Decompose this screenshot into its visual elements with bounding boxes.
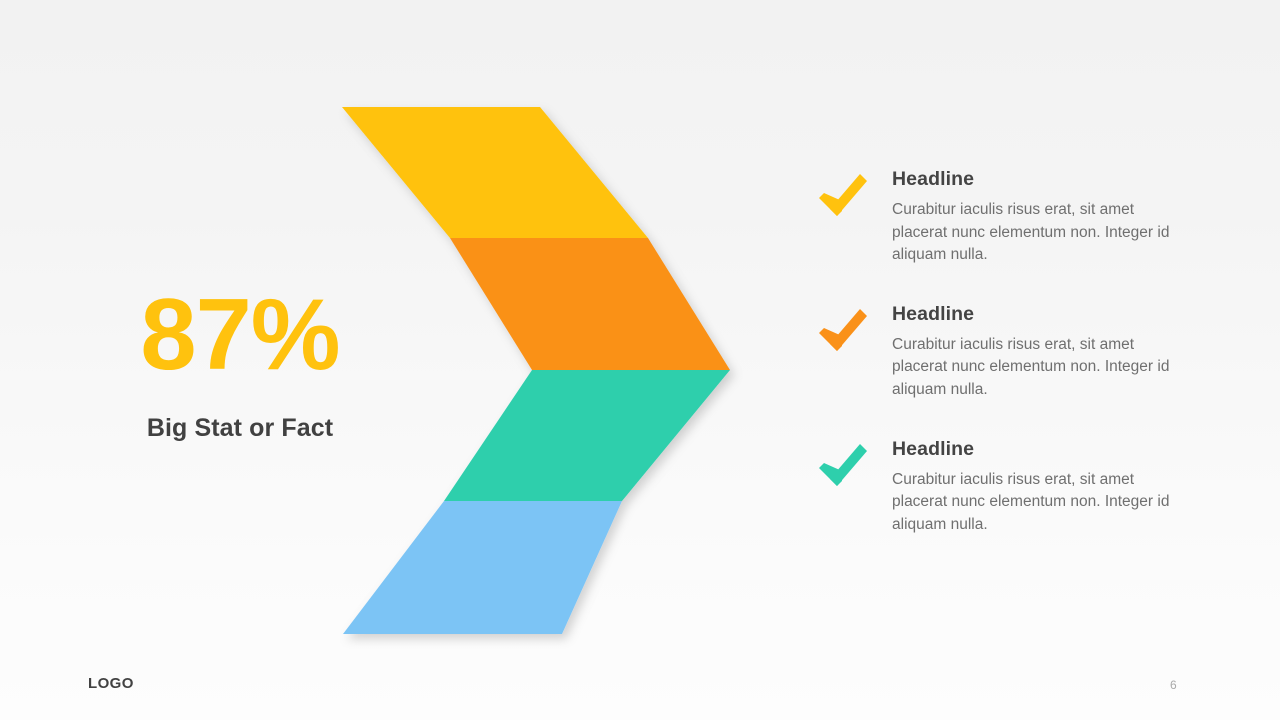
- feature-body: Headline Curabitur iaculis risus erat, s…: [892, 168, 1218, 267]
- check-icon: [818, 172, 874, 218]
- check-icon: [818, 307, 874, 353]
- band-blue: [343, 501, 622, 634]
- check-icon-long-stroke: [830, 444, 867, 486]
- feature-body: Headline Curabitur iaculis risus erat, s…: [892, 438, 1218, 537]
- big-stat-number: 87%: [60, 285, 420, 386]
- feature-text: Curabitur iaculis risus erat, sit amet p…: [892, 469, 1170, 537]
- check-icon-long-stroke: [830, 174, 867, 216]
- feature-body: Headline Curabitur iaculis risus erat, s…: [892, 303, 1218, 402]
- feature-text: Curabitur iaculis risus erat, sit amet p…: [892, 199, 1170, 267]
- feature-title: Headline: [892, 303, 1218, 326]
- slide-canvas: 87% Big Stat or Fact Headline Curabitur …: [0, 0, 1280, 720]
- footer-page-number: 6: [1170, 678, 1177, 692]
- check-icon-long-stroke: [830, 309, 867, 351]
- footer-logo: LOGO: [88, 675, 134, 692]
- band-orange: [450, 238, 730, 370]
- feature-title: Headline: [892, 438, 1218, 461]
- feature-title: Headline: [892, 168, 1218, 191]
- band-yellow: [342, 107, 648, 238]
- feature-item: Headline Curabitur iaculis risus erat, s…: [818, 303, 1218, 402]
- check-icon: [818, 442, 874, 488]
- feature-item: Headline Curabitur iaculis risus erat, s…: [818, 168, 1218, 267]
- feature-list: Headline Curabitur iaculis risus erat, s…: [818, 168, 1218, 572]
- big-stat-block: 87% Big Stat or Fact: [60, 285, 420, 443]
- feature-text: Curabitur iaculis risus erat, sit amet p…: [892, 334, 1170, 402]
- big-stat-caption: Big Stat or Fact: [60, 414, 420, 443]
- feature-item: Headline Curabitur iaculis risus erat, s…: [818, 438, 1218, 537]
- band-teal: [444, 370, 730, 501]
